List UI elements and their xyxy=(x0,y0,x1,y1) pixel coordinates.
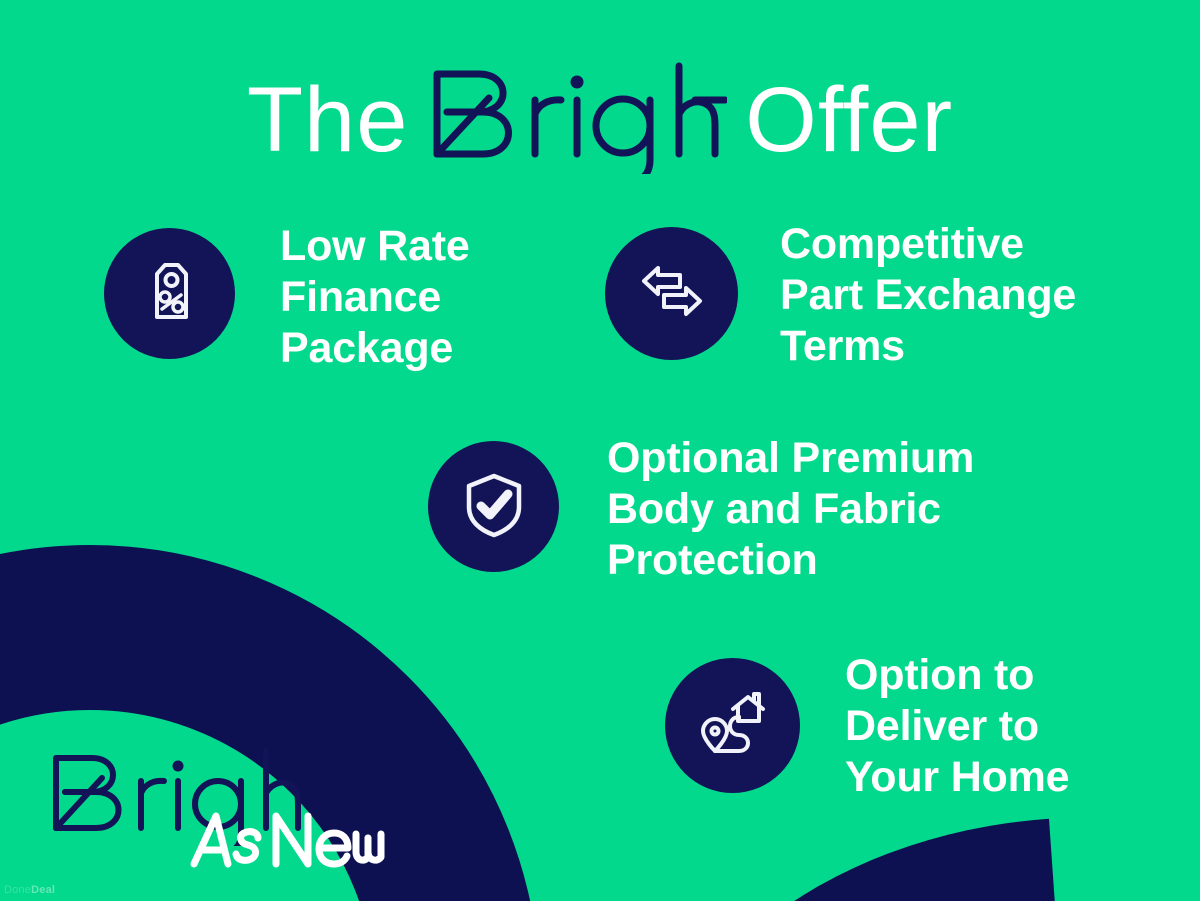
feature-icon-circle xyxy=(104,228,235,359)
logo-asnew-wordmark xyxy=(188,808,388,879)
price-tag-percent-icon xyxy=(133,254,207,333)
feature-line: Your Home xyxy=(845,752,1145,803)
feature-line: Terms xyxy=(780,321,1140,372)
brand-logo xyxy=(48,748,388,878)
feature-low-rate-finance: Low Rate Finance Package xyxy=(104,228,580,374)
feature-line: Competitive xyxy=(780,219,1140,270)
feature-label: Low Rate Finance Package xyxy=(280,221,580,374)
shield-check-icon xyxy=(457,467,531,546)
exchange-arrows-icon xyxy=(633,252,711,335)
bright-wordmark-title xyxy=(427,62,727,178)
watermark-prefix: Done xyxy=(4,884,31,896)
feature-body-fabric-protection: Optional Premium Body and Fabric Protect… xyxy=(428,441,1027,586)
feature-icon-circle xyxy=(665,658,800,793)
feature-line: Low Rate xyxy=(280,221,580,272)
feature-icon-circle xyxy=(428,441,559,572)
feature-line: Body and Fabric xyxy=(607,484,1027,535)
feature-line: Part Exchange xyxy=(780,270,1140,321)
map-pin-route-house-icon xyxy=(693,683,773,768)
feature-home-delivery: Option to Deliver to Your Home xyxy=(665,658,1145,803)
feature-line: Deliver to xyxy=(845,701,1145,752)
title-word-offer: Offer xyxy=(745,69,953,171)
feature-label: Competitive Part Exchange Terms xyxy=(780,219,1140,372)
page-title: The xyxy=(0,62,1200,178)
feature-line: Option to xyxy=(845,650,1145,701)
feature-part-exchange: Competitive Part Exchange Terms xyxy=(605,227,1140,372)
feature-line: Protection xyxy=(607,535,1027,586)
feature-label: Optional Premium Body and Fabric Protect… xyxy=(607,433,1027,586)
feature-icon-circle xyxy=(605,227,738,360)
feature-label: Option to Deliver to Your Home xyxy=(845,650,1145,803)
watermark-suffix: Deal xyxy=(31,884,55,896)
feature-line: Optional Premium xyxy=(607,433,1027,484)
bright-as-new-offer-poster: The xyxy=(0,0,1200,901)
donedeal-watermark: DoneDeal xyxy=(4,884,55,896)
feature-line: Finance xyxy=(280,272,580,323)
feature-line: Package xyxy=(280,323,580,374)
title-word-the: The xyxy=(247,69,409,171)
decorative-navy-wedge xyxy=(630,819,1070,901)
